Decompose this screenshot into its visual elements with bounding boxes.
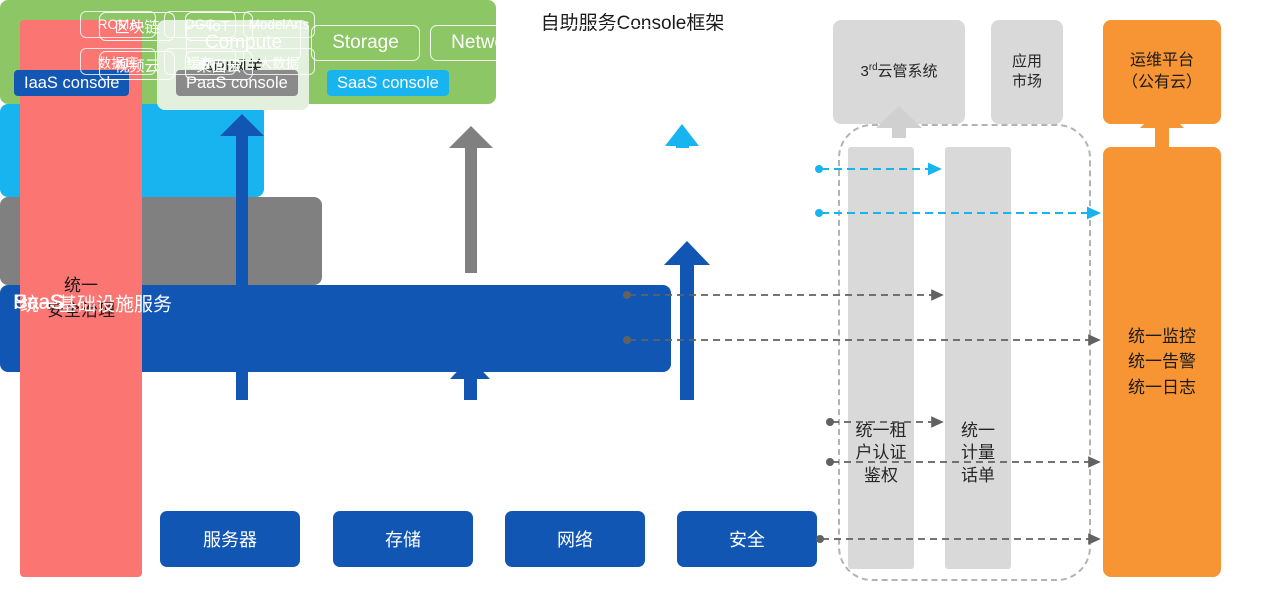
hardware-label-storage: 存储 [385, 526, 421, 552]
infra-service-compute[interactable]: Compute [186, 25, 301, 61]
paas-service-database[interactable]: 数据库 [80, 48, 156, 75]
infra-service-storage[interactable]: Storage [311, 25, 420, 61]
app-market-line2: 市场 [1012, 72, 1042, 92]
app-market-box: 应用 市场 [991, 20, 1063, 124]
ops-log-line: 统一日志 [1128, 375, 1196, 401]
metering-line3: 话单 [945, 465, 1011, 487]
ops-platform-body-box: 统一监控 统一告警 统一日志 [1103, 147, 1221, 577]
ops-monitor-line: 统一监控 [1128, 324, 1196, 350]
ops-platform-title: 运维平台 [1122, 50, 1202, 72]
hardware-label-server: 服务器 [203, 526, 257, 552]
shared-column-tenant-auth: 统一租 户认证 鉴权 [848, 147, 914, 569]
arrow-paas-to-console [449, 126, 493, 273]
architecture-diagram: 统一 安全治理 API网关 自助服务Console框架 IaaS console… [0, 0, 1265, 605]
metering-line2: 计量 [945, 442, 1011, 464]
hardware-label-security: 安全 [729, 526, 765, 552]
third-party-label: 3rd云管系统 [860, 61, 937, 82]
hardware-box-server: 服务器 [160, 511, 300, 567]
arrow-saas-to-console [665, 124, 699, 148]
infra-service-network[interactable]: Network [430, 25, 542, 61]
shared-column-metering-billing: 统一 计量 话单 [945, 147, 1011, 569]
saas-console-chip[interactable]: SaaS console [327, 70, 449, 96]
infra-service-cce[interactable]: CCE [552, 25, 655, 61]
infrastructure-label: 统一基础设施服务 [20, 289, 172, 316]
metering-line1: 统一 [945, 420, 1011, 442]
hardware-box-network: 网络 [505, 511, 645, 567]
tenant-auth-line2: 户认证 [848, 442, 914, 464]
ops-platform-header-box: 运维平台 （公有云） [1103, 20, 1221, 124]
hardware-box-storage: 存储 [333, 511, 473, 567]
app-market-line1: 应用 [1012, 52, 1042, 72]
hardware-label-network: 网络 [557, 526, 593, 552]
ops-platform-subtitle: （公有云） [1122, 72, 1202, 94]
hardware-box-security: 安全 [677, 511, 817, 567]
paas-service-roma[interactable]: ROMA [80, 11, 156, 38]
tenant-auth-line3: 鉴权 [848, 465, 914, 487]
third-party-cloud-management-box: 3rd云管系统 [833, 20, 965, 124]
ops-alarm-line: 统一告警 [1128, 349, 1196, 375]
tenant-auth-line1: 统一租 [848, 420, 914, 442]
